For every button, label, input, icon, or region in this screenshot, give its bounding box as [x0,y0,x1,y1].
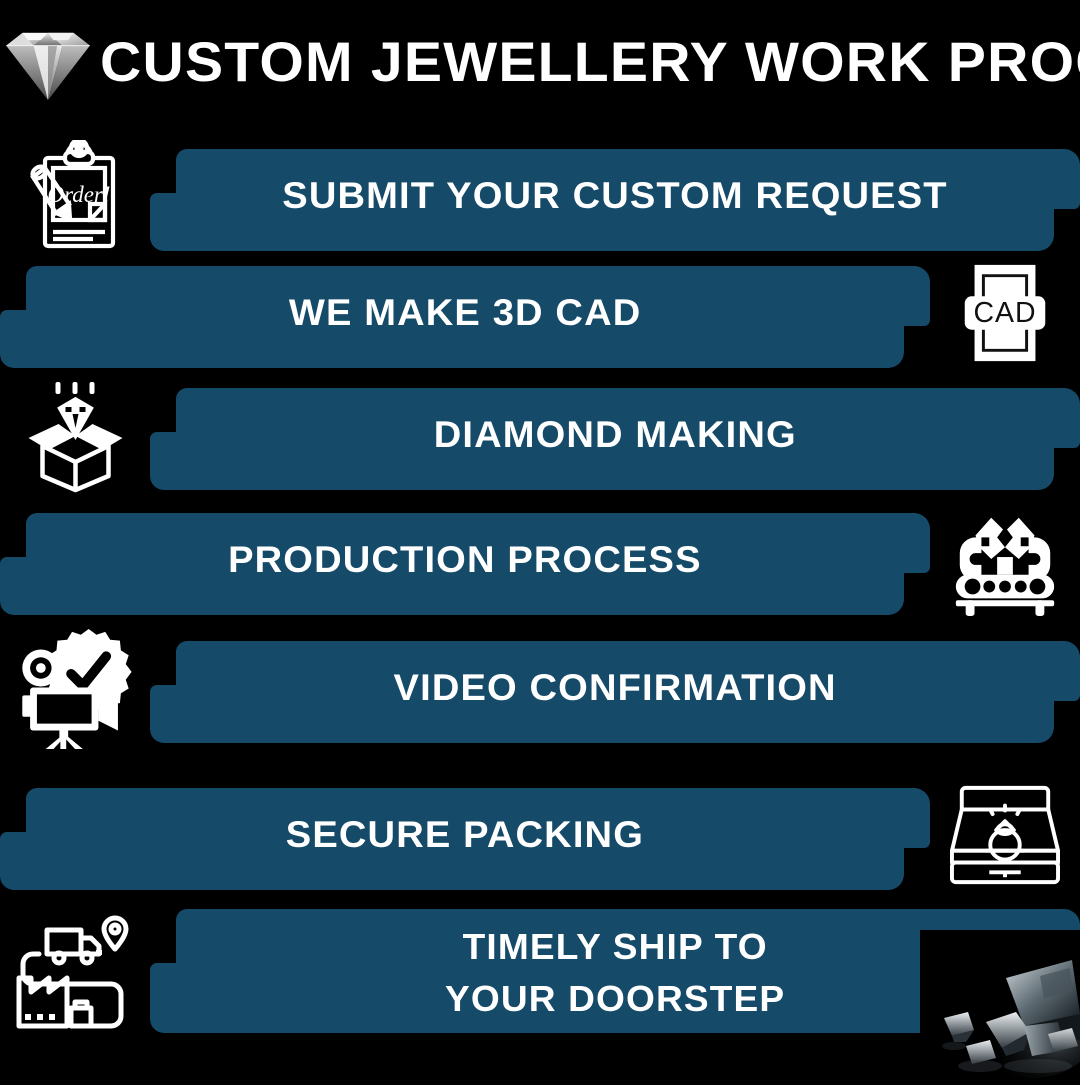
diamond-icon [2,22,94,102]
step-row-2: CAD WE MAKE 3D CAD [0,250,1080,375]
factory-truck-route-icon [0,905,150,1040]
page-header: CUSTOM JEWELLERY WORK PROCESS [0,0,1080,122]
step-row-4: PRODUCTION PROCESS [0,497,1080,622]
svg-text:Order!: Order! [47,182,110,207]
diamond-in-box-icon [0,376,150,494]
clipboard-order-icon: Order! [0,137,150,255]
step-label-4: PRODUCTION PROCESS [228,541,702,578]
conveyor-robot-arms-icon [930,501,1080,619]
step-label-7: TIMELY SHIP TO YOUR DOORSTEP [445,921,785,1023]
video-camera-check-icon [0,629,150,747]
step-label-5: VIDEO CONFIRMATION [393,669,836,706]
step-label-6: SECURE PACKING [286,816,644,853]
step-banner-2[interactable]: WE MAKE 3D CAD [0,254,930,372]
step-banner-5[interactable]: VIDEO CONFIRMATION [150,629,1080,747]
step-row-1: Order! SUBMIT YOUR CUSTOM REQUEST [0,133,1080,258]
step-row-3: DIAMOND MAKING [0,372,1080,497]
step-banner-6[interactable]: SECURE PACKING [0,776,930,894]
step-banner-4[interactable]: PRODUCTION PROCESS [0,501,930,619]
step-row-7: TIMELY SHIP TO YOUR DOORSTEP [0,900,1080,1045]
step-row-6: SECURE PACKING [0,772,1080,897]
step-banner-7[interactable]: TIMELY SHIP TO YOUR DOORSTEP [150,903,1080,1043]
page-title: CUSTOM JEWELLERY WORK PROCESS [100,29,1080,94]
step-label-2: WE MAKE 3D CAD [289,294,642,331]
step-row-5: VIDEO CONFIRMATION [0,625,1080,750]
svg-text:CAD: CAD [973,296,1036,328]
cad-document-icon: CAD [930,254,1080,372]
step-banner-1[interactable]: SUBMIT YOUR CUSTOM REQUEST [150,137,1080,255]
step-label-3: DIAMOND MAKING [433,416,796,453]
step-banner-3[interactable]: DIAMOND MAKING [150,376,1080,494]
step-label-1: SUBMIT YOUR CUSTOM REQUEST [282,177,947,214]
ring-box-icon [930,776,1080,894]
